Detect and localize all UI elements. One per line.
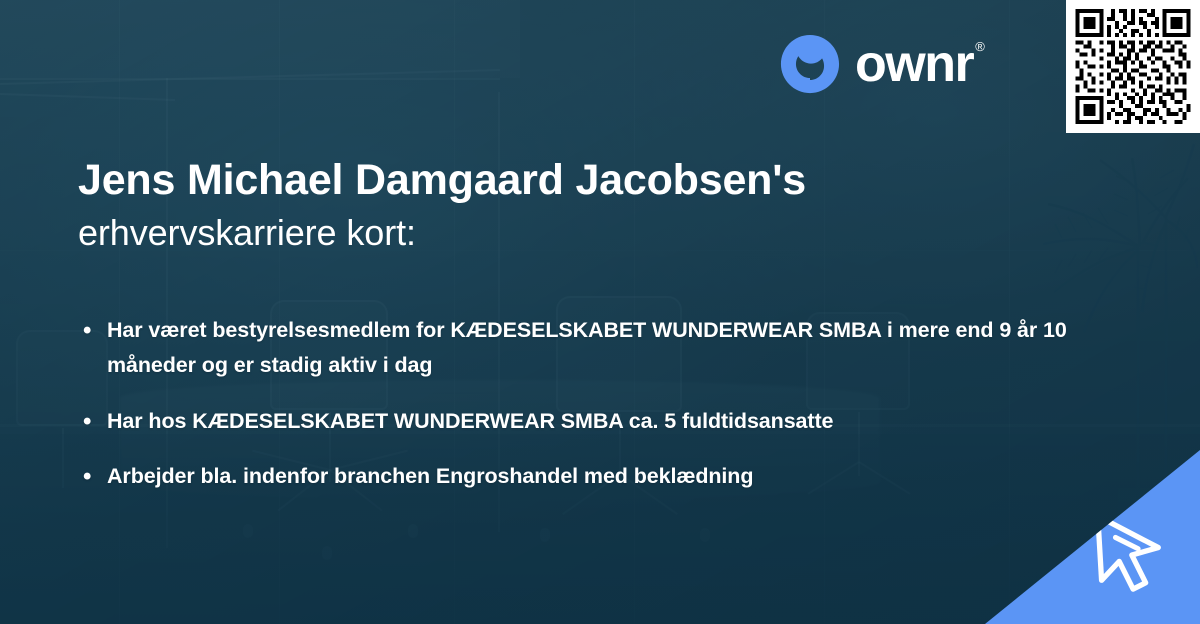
background-office-photo [0,0,1200,624]
list-item: Har hos KÆDESELSKABET WUNDERWEAR SMBA ca… [80,404,1080,439]
page-title: Jens Michael Damgaard Jacobsen's erhverv… [78,155,1038,255]
ownr-circle-swoosh-icon [779,33,841,95]
ownr-logo[interactable]: ownr® [779,33,981,95]
profile-card: ownr® Jens Michael Damgaard Jacobsen's e… [0,0,1200,624]
headline-line-2: erhvervskarriere kort: [78,210,1038,255]
qr-code-icon [1075,9,1191,124]
ownr-wordmark-text: ownr [855,35,973,93]
list-item: Har været bestyrelsesmedlem for KÆDESELS… [80,313,1080,383]
ownr-wordmark: ownr® [855,38,981,90]
career-facts-list: Har været bestyrelsesmedlem for KÆDESELS… [80,313,1080,494]
qr-code[interactable] [1066,0,1200,133]
registered-trademark-symbol: ® [975,39,983,54]
list-item: Arbejder bla. indenfor branchen Engrosha… [80,459,1080,494]
headline-line-1: Jens Michael Damgaard Jacobsen's [78,155,1038,206]
